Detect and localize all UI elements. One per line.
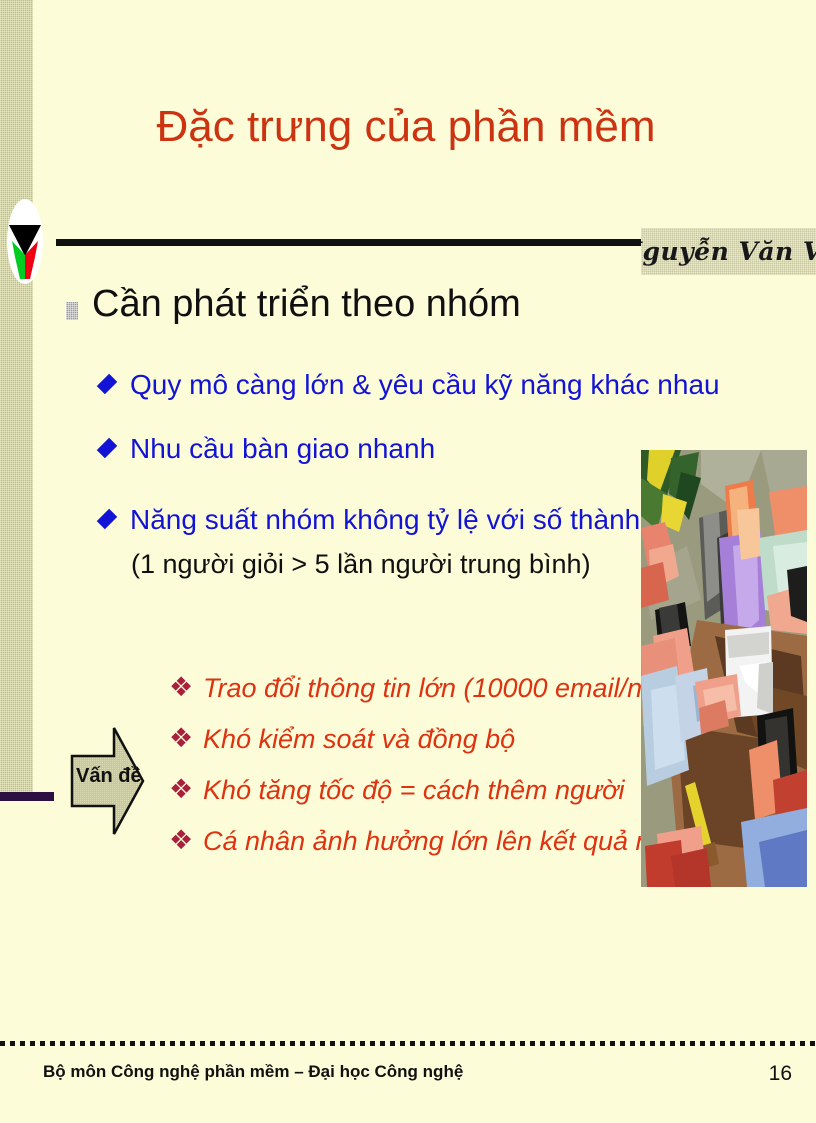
level1-bullet-label: Cần phát triển theo nhóm bbox=[92, 285, 521, 325]
diamond-bullet-icon bbox=[97, 509, 117, 529]
vnu-uet-logo bbox=[7, 199, 43, 284]
sidebar-band-cap bbox=[0, 792, 54, 801]
problem-item-4-label: Cá nhân ảnh hưởng lớn lên kết quả nhóm bbox=[203, 826, 703, 857]
list-item: ❖ Khó kiểm soát và đồng bộ bbox=[169, 724, 703, 775]
sidebar-band bbox=[0, 0, 33, 800]
list-item: ❖ Khó tăng tốc độ = cách thêm người bbox=[169, 775, 703, 826]
footer-divider bbox=[0, 1041, 816, 1046]
footer-label: Bộ môn Công nghệ phần mềm – Đại học Công… bbox=[43, 1062, 463, 1082]
page-number: 16 bbox=[769, 1062, 792, 1086]
floral-diamond-bullet-icon: ❖ bbox=[169, 673, 191, 703]
diamond-bullet-icon bbox=[97, 374, 117, 394]
list-item: ❖ Trao đổi thông tin lớn (10000 email/ng… bbox=[169, 673, 703, 724]
floral-diamond-bullet-icon: ❖ bbox=[169, 775, 191, 805]
level2-bullet-3: Năng suất nhóm không tỷ lệ với số thành … bbox=[100, 502, 699, 537]
page-title: Đặc trưng của phần mềm bbox=[56, 104, 756, 150]
floral-diamond-bullet-icon: ❖ bbox=[169, 724, 191, 754]
author-stamp: Nguyễn Văn Vỵ bbox=[641, 228, 816, 275]
level2-bullet-1: Quy mô càng lớn & yêu cầu kỹ năng khác n… bbox=[100, 367, 720, 402]
level2-bullet-2-label: Nhu cầu bàn giao nhanh bbox=[130, 431, 435, 466]
square-marker-icon bbox=[66, 302, 78, 320]
level1-bullet: Cần phát triển theo nhóm bbox=[66, 285, 521, 325]
slide-canvas: Đặc trưng của phần mềm Nguyễn Văn Vỵ Cần… bbox=[0, 0, 816, 1123]
problem-item-2-label: Khó kiểm soát và đồng bộ bbox=[203, 724, 515, 755]
level2-bullet-1-label: Quy mô càng lớn & yêu cầu kỹ năng khác n… bbox=[130, 367, 720, 402]
title-divider bbox=[56, 239, 701, 246]
floral-diamond-bullet-icon: ❖ bbox=[169, 826, 191, 856]
problem-callout-label: Vấn đề bbox=[76, 765, 134, 788]
problem-item-3-label: Khó tăng tốc độ = cách thêm người bbox=[203, 775, 624, 806]
level2-subnote: (1 người giỏi > 5 lần người trung bình) bbox=[131, 549, 591, 580]
list-item: ❖ Cá nhân ảnh hưởng lớn lên kết quả nhóm bbox=[169, 826, 703, 877]
problems-list: ❖ Trao đổi thông tin lớn (10000 email/ng… bbox=[169, 673, 703, 877]
level2-bullet-2: Nhu cầu bàn giao nhanh bbox=[100, 431, 435, 466]
problem-item-1-label: Trao đổi thông tin lớn (10000 email/ngày… bbox=[203, 673, 695, 704]
level2-bullet-3-label: Năng suất nhóm không tỷ lệ với số thành … bbox=[130, 502, 699, 537]
diamond-bullet-icon bbox=[97, 438, 117, 458]
team-meeting-clipart bbox=[641, 450, 807, 887]
